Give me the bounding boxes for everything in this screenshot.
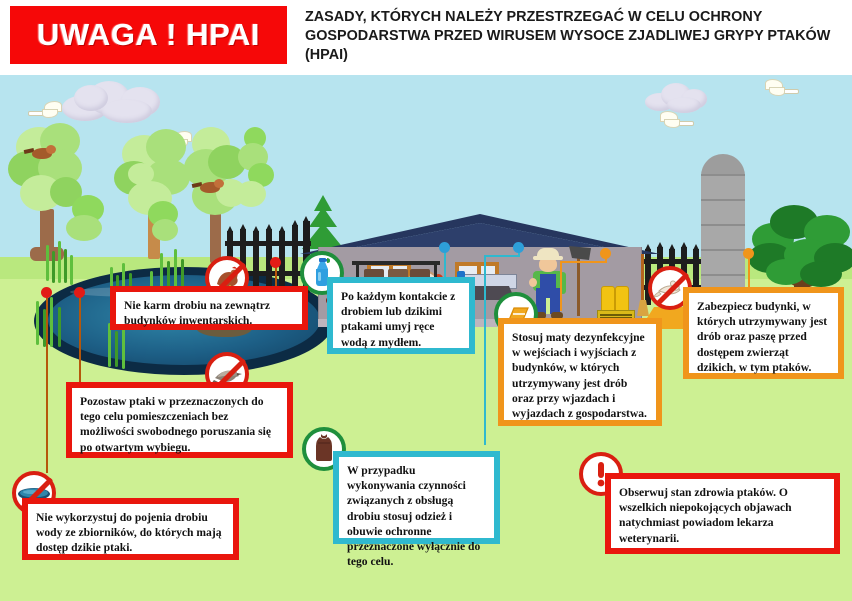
flying-bird-icon bbox=[765, 83, 799, 97]
rule-box-no-reservoir-water: Nie wykorzystuj do pojenia drobiu wody z… bbox=[22, 498, 239, 560]
rake-tool bbox=[569, 246, 591, 316]
rule-text: Pozostaw ptaki w przeznaczonych do tego … bbox=[72, 388, 287, 461]
alert-banner-label: UWAGA ! HPAI bbox=[37, 17, 260, 53]
rule-box-disinfection-mats: Stosuj maty dezynfekcyjne w wejściach i … bbox=[498, 318, 662, 426]
bush bbox=[66, 215, 102, 241]
bush bbox=[152, 219, 178, 241]
rule-text: Nie wykorzystuj do pojenia drobiu wody z… bbox=[28, 504, 233, 562]
header: UWAGA ! HPAI ZASADY, KTÓRYCH NALEŻY PRZE… bbox=[0, 0, 852, 75]
rule-text: Stosuj maty dezynfekcyjne w wejściach i … bbox=[504, 324, 656, 427]
flying-bird-icon bbox=[660, 115, 694, 129]
rule-box-protective-clothing: W przypadku wykonywania czynności związa… bbox=[333, 451, 500, 544]
rule-box-secure-buildings: Zabezpiecz budynki, w których utrzymywan… bbox=[683, 287, 844, 379]
rule-text: Obserwuj stan zdrowia ptaków. O wszelkic… bbox=[611, 479, 834, 552]
alert-banner: UWAGA ! HPAI bbox=[10, 6, 287, 64]
infographic-page: UWAGA ! HPAI ZASADY, KTÓRYCH NALEŻY PRZE… bbox=[0, 0, 852, 601]
rule-text: Nie karm drobiu na zewnątrz budynków inw… bbox=[116, 292, 302, 334]
bush bbox=[236, 181, 266, 207]
tree bbox=[8, 123, 92, 263]
rule-box-no-outdoor-feeding: Nie karm drobiu na zewnątrz budynków inw… bbox=[110, 286, 308, 330]
rule-box-observe-health: Obserwuj stan zdrowia ptaków. O wszelkic… bbox=[605, 473, 840, 554]
flying-bird-icon bbox=[28, 105, 62, 119]
rule-text: Zabezpiecz budynki, w których utrzymywan… bbox=[689, 293, 838, 381]
rule-box-keep-birds-enclosed: Pozostaw ptaki w przeznaczonych do tego … bbox=[66, 382, 293, 458]
rule-text: Po każdym kontakcie z drobiem lub dzikim… bbox=[333, 283, 469, 356]
rule-text: W przypadku wykonywania czynności związa… bbox=[339, 457, 494, 575]
page-title: ZASADY, KTÓRYCH NALEŻY PRZESTRZEGAĆ W CE… bbox=[305, 8, 845, 65]
rule-box-wash-hands: Po każdym kontakcie z drobiem lub dzikim… bbox=[327, 277, 475, 354]
bush bbox=[128, 163, 154, 185]
